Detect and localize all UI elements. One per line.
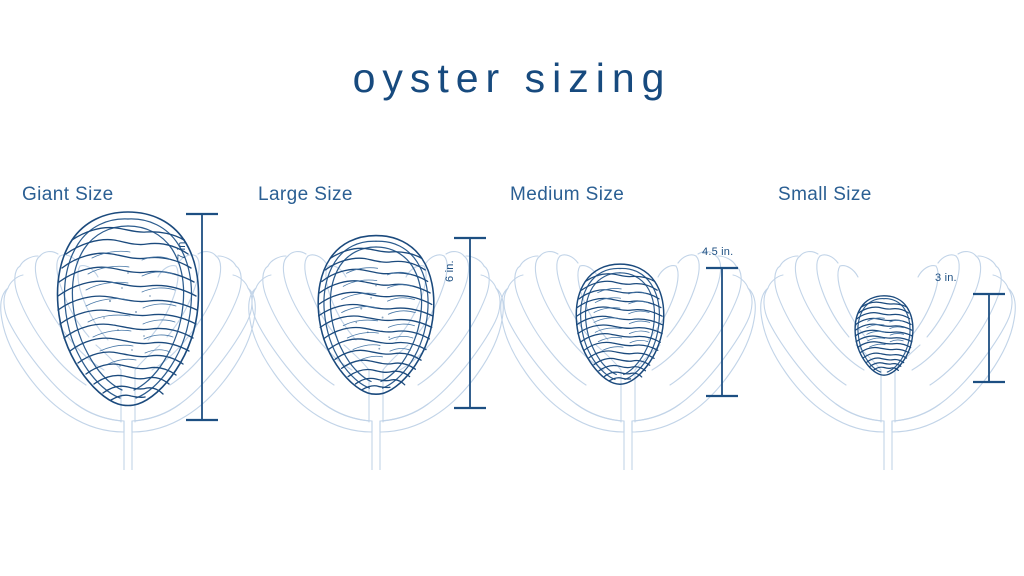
measurement-label-giant: 7 in. [176, 238, 188, 260]
measurement-bar-giant: 7 in. [178, 208, 238, 428]
measurement-bar-icon [965, 288, 1009, 390]
measurement-label-large: 6 in. [444, 260, 456, 282]
size-panel-large: Large Size [248, 170, 504, 470]
size-panel-small: Small Size [760, 170, 1016, 470]
measurement-label-medium: 4.5 in. [702, 246, 733, 258]
measurement-bar-small: 3 in. [965, 288, 1024, 390]
measurement-bar-large: 6 in. [446, 232, 506, 416]
page-title: oyster sizing [0, 58, 1024, 99]
size-panel-medium: Medium Size [500, 170, 756, 470]
measurement-bar-medium: 4.5 in. [698, 262, 758, 404]
measurement-label-small: 3 in. [935, 272, 957, 284]
measurement-bar-icon [698, 262, 742, 404]
size-panel-giant: Giant Size [0, 170, 256, 470]
